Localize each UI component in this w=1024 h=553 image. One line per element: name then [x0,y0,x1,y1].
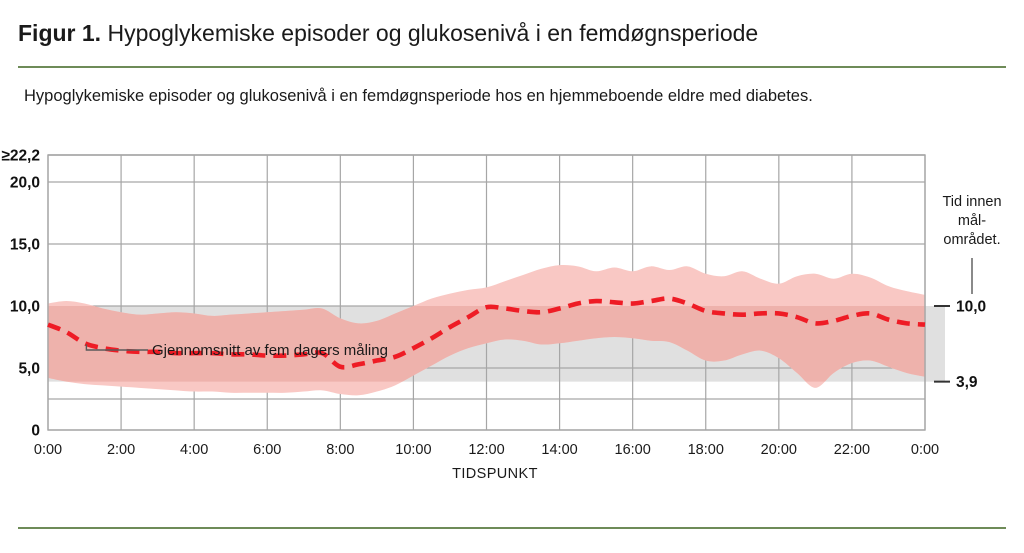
x-axis-tick-label: 10:00 [395,442,431,458]
figure-title-text: Hypoglykemiske episoder og glukosenivå i… [101,20,758,46]
x-axis-tick-label: 0:00 [911,442,939,458]
figure-title: Figur 1. Hypoglykemiske episoder og gluk… [18,18,1008,48]
x-axis-tick-label: 4:00 [180,442,208,458]
target-range-band-extension [925,306,945,382]
x-axis-tick-label: 0:00 [34,442,62,458]
x-axis-tick-label: 12:00 [468,442,504,458]
y-axis-tick-label: 5,0 [18,361,40,378]
y-axis-tick-label: 0 [31,423,40,440]
x-axis-labels: 0:002:004:006:008:0010:0012:0014:0016:00… [34,442,939,458]
side-note-line-1: Tid innen [942,194,1001,210]
x-axis-tick-label: 22:00 [834,442,870,458]
x-axis-title: TIDSPUNKT [452,466,538,482]
side-note-line-2: mål- [958,213,986,229]
figure-label: Figur 1. [18,20,101,46]
x-axis-tick-label: 14:00 [541,442,577,458]
x-axis-tick-label: 2:00 [107,442,135,458]
target-high-label: 10,0 [956,299,986,316]
y-axis-tick-label: 15,0 [10,237,40,254]
y-axis-labels: 05,010,015,020,0≥22,2 [1,148,40,440]
footer-rule [18,527,1006,529]
target-low-label: 3,9 [956,374,978,391]
chart-container: 05,010,015,020,0≥22,2 0:002:004:006:008:… [0,130,1024,500]
x-axis-tick-label: 18:00 [688,442,724,458]
y-axis-tick-label: 10,0 [10,299,40,316]
y-axis-tick-label: ≥22,2 [1,148,40,165]
x-axis-tick-label: 6:00 [253,442,281,458]
x-axis-tick-label: 8:00 [326,442,354,458]
figure-page: Figur 1. Hypoglykemiske episoder og gluk… [0,0,1024,553]
x-axis-tick-label: 16:00 [615,442,651,458]
figure-caption: Hypoglykemiske episoder og glukosenivå i… [24,85,1004,107]
glucose-chart: 05,010,015,020,0≥22,2 0:002:004:006:008:… [0,130,1024,500]
x-axis-tick-label: 20:00 [761,442,797,458]
mean-callout-label: Gjennomsnitt av fem dagers måling [152,342,388,359]
side-note-line-3: området. [943,232,1000,248]
header-rule [18,66,1006,68]
y-axis-tick-label: 20,0 [10,175,40,192]
